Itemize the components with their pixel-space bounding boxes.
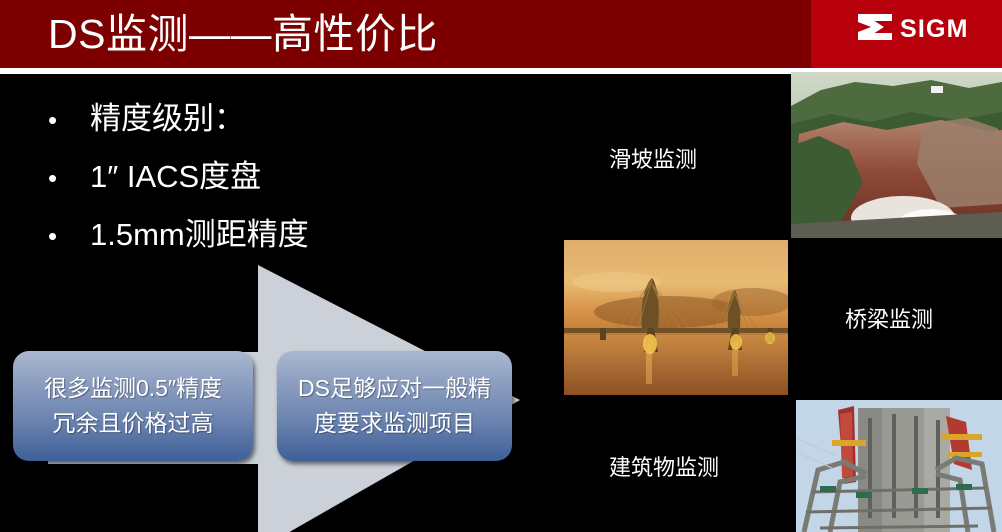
photo-landslide <box>791 72 1002 238</box>
callout-line: 度要求监测项目 <box>287 406 502 441</box>
logo-wordmark: SIGM <box>900 17 969 42</box>
callout-problem: 很多监测0.5″精度 冗余且价格过高 <box>13 351 253 461</box>
arrow-diagram: 很多监测0.5″精度 冗余且价格过高 DS足够应对一般精 度要求监测项目 <box>0 262 560 532</box>
list-item: • 1″ IACS度盘 <box>48 156 518 198</box>
callout-line: 很多监测0.5″精度 <box>23 371 243 406</box>
bullet-text: 精度级别： <box>90 98 245 140</box>
caption-landslide: 滑坡监测 <box>609 145 697 175</box>
page-title: DS监测——高性价比 <box>48 4 438 64</box>
bullet-marker-icon: • <box>48 100 90 140</box>
caption-bridge: 桥梁监测 <box>845 305 933 335</box>
bullet-marker-icon: • <box>48 216 90 256</box>
logo-panel: SIGM <box>811 0 1002 68</box>
list-item: • 精度级别： <box>48 98 518 140</box>
list-item: • 1.5mm测距精度 <box>48 214 518 256</box>
callout-line: DS足够应对一般精 <box>287 371 502 406</box>
photo-building <box>796 400 1002 532</box>
callout-line: 冗余且价格过高 <box>23 406 243 441</box>
bullet-text: 1.5mm测距精度 <box>90 214 309 256</box>
bullet-text: 1″ IACS度盘 <box>90 156 261 198</box>
brand-logo: SIGM <box>857 12 969 47</box>
caption-building: 建筑物监测 <box>609 453 719 483</box>
callout-solution: DS足够应对一般精 度要求监测项目 <box>277 351 512 461</box>
sigma-arrow-mark-icon <box>857 12 893 47</box>
bullet-marker-icon: • <box>48 158 90 198</box>
photo-bridge <box>564 240 788 395</box>
slide-canvas: DS监测——高性价比 SIGM • 精度级别： • 1″ IACS度盘 • 1.… <box>0 0 1002 532</box>
bullet-list: • 精度级别： • 1″ IACS度盘 • 1.5mm测距精度 <box>48 98 518 272</box>
